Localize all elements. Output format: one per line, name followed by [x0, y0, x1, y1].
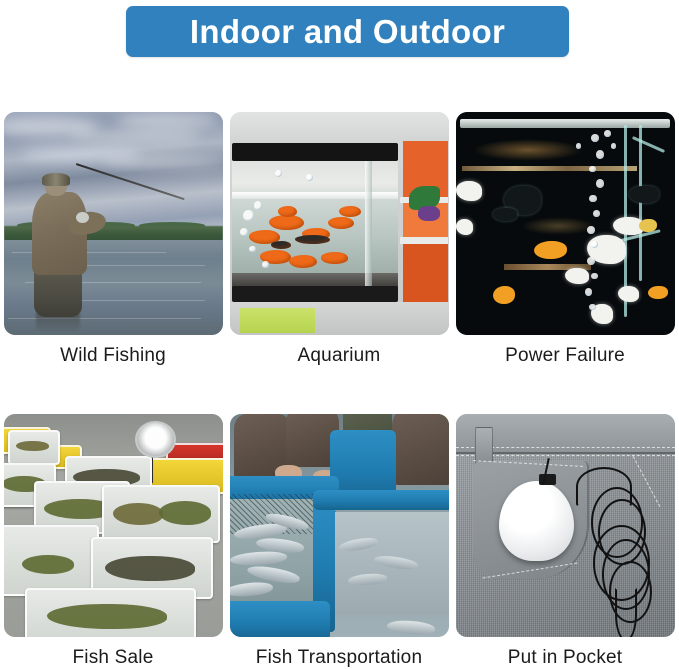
fish-tray — [8, 430, 60, 465]
water-ripple — [69, 265, 205, 266]
air-bubble — [275, 170, 282, 177]
tank-front — [230, 601, 331, 637]
caption-wild-fishing: Wild Fishing — [60, 346, 166, 367]
air-bubble — [604, 130, 611, 137]
scenario-cell-put-in-pocket: Put in Pocket — [452, 414, 678, 669]
air-bubble — [262, 261, 269, 268]
thumbnail-power-failure — [456, 112, 675, 335]
orange-goldfish — [648, 286, 668, 299]
power-cable — [615, 588, 637, 637]
thumbnail-put-in-pocket — [456, 414, 675, 637]
caption-fish-sale: Fish Sale — [72, 648, 153, 669]
cloud — [117, 113, 218, 128]
scenario-cell-aquarium: Aquarium — [226, 112, 452, 367]
tank-glass — [232, 161, 398, 286]
air-bubble — [591, 134, 599, 142]
tank-crossbar — [462, 166, 637, 172]
shelf-divider — [400, 237, 448, 244]
worker — [392, 414, 449, 485]
scene-fish-transportation — [230, 414, 449, 637]
scenario-grid: Wild Fishing — [0, 112, 679, 669]
scene-power-failure — [456, 112, 675, 335]
air-tube — [639, 125, 642, 281]
dark-fish — [271, 241, 291, 249]
fish — [22, 555, 75, 574]
wall — [230, 112, 449, 143]
white-goldfish — [456, 219, 474, 235]
scenario-row-2: Fish Sale — [0, 414, 679, 669]
fish — [113, 503, 163, 524]
cloud — [102, 157, 222, 169]
scene-aquarium — [230, 112, 449, 335]
yellow-goldfish — [639, 219, 657, 232]
fish — [159, 501, 211, 525]
goldfish — [278, 206, 298, 217]
thumbnail-wild-fishing — [4, 112, 223, 335]
tank-top-frame — [232, 143, 398, 161]
hanging-scale — [135, 421, 176, 458]
dark-fish — [295, 235, 330, 244]
white-goldfish — [618, 286, 640, 302]
scenario-row-1: Wild Fishing — [0, 112, 679, 367]
dark-fish-tail — [493, 208, 517, 221]
air-bubble — [596, 179, 605, 188]
tank-rim — [313, 490, 449, 510]
fish-tray — [102, 485, 220, 543]
air-bubble — [591, 273, 598, 280]
scenario-cell-fish-sale: Fish Sale — [0, 414, 226, 669]
air-bubble — [243, 210, 254, 221]
thumbnail-aquarium — [230, 112, 449, 335]
water-ripple — [82, 300, 205, 301]
scene-fish-sale — [4, 414, 223, 637]
goldfish — [328, 217, 354, 229]
air-bubble — [587, 257, 595, 265]
green-mat — [240, 308, 314, 333]
air-bubble — [589, 166, 596, 173]
fish — [47, 604, 167, 630]
belt-loop — [475, 427, 492, 465]
tank-corner-post — [365, 161, 372, 286]
air-bubble — [596, 150, 605, 159]
air-bubble — [587, 226, 595, 234]
goldfish — [289, 255, 317, 268]
interior-glow — [521, 217, 595, 235]
goldfish — [269, 215, 304, 231]
purple-ornament — [418, 206, 440, 222]
angler-waders — [34, 268, 82, 317]
scenario-cell-wild-fishing: Wild Fishing — [0, 112, 226, 367]
tank-waterline — [232, 192, 398, 199]
cloud — [69, 127, 200, 144]
surface-glow — [473, 139, 583, 161]
caption-fish-transportation: Fish Transportation — [256, 648, 422, 669]
air-bubble — [591, 241, 598, 248]
air-bubble — [589, 304, 596, 311]
scene-wild-fishing — [4, 112, 223, 335]
angler-cap — [42, 173, 70, 185]
dark-fish — [629, 186, 660, 204]
fish-tray — [25, 588, 195, 637]
orange-goldfish — [534, 241, 567, 259]
product-feature-image: Indoor and Outdoor — [0, 0, 679, 657]
white-goldfish — [565, 268, 589, 284]
thumbnail-fish-transportation — [230, 414, 449, 637]
page-title: Indoor and Outdoor — [190, 15, 505, 48]
scenario-cell-power-failure: Power Failure — [452, 112, 678, 367]
scenario-cell-fish-transportation: Fish Transportation — [226, 414, 452, 669]
air-bubble — [589, 195, 597, 203]
title-banner: Indoor and Outdoor — [126, 6, 569, 57]
air-bubble — [240, 228, 248, 236]
thumbnail-fish-sale — [4, 414, 223, 637]
fish — [105, 556, 195, 582]
orange-goldfish — [493, 286, 515, 304]
air-bubble — [306, 174, 313, 181]
orange-shelf — [403, 244, 449, 311]
caption-aquarium: Aquarium — [298, 346, 381, 367]
goldfish — [321, 252, 347, 263]
fish-tray — [4, 525, 100, 596]
goldfish — [339, 206, 361, 217]
caption-put-in-pocket: Put in Pocket — [508, 648, 623, 669]
tank-bottom-frame — [232, 286, 398, 302]
air-bubble — [593, 210, 600, 217]
fish — [16, 441, 50, 452]
air-pump-device — [499, 481, 573, 561]
caption-power-failure: Power Failure — [505, 346, 625, 367]
scene-put-in-pocket — [456, 414, 675, 637]
